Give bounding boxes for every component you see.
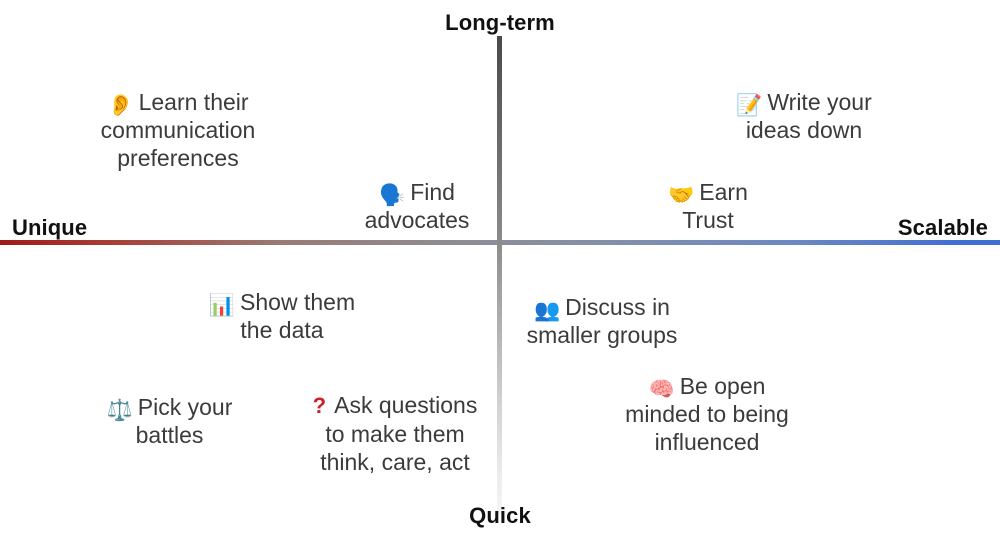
matrix-item-ask-questions: ?Ask questions to make them think, care,…	[300, 363, 490, 476]
quadrant-matrix: Long-term Quick Unique Scalable 👂Learn t…	[0, 0, 1000, 542]
matrix-item-discuss-smaller-groups: 👥Discuss in smaller groups	[512, 265, 692, 349]
brain-icon: 🧠	[649, 379, 675, 400]
matrix-item-be-open-minded: 🧠Be open minded to being influenced	[608, 344, 806, 456]
matrix-item-label: Pick your battles	[136, 394, 233, 448]
question-mark-icon: ?	[313, 393, 326, 418]
matrix-item-label: Ask questions to make them think, care, …	[320, 392, 477, 475]
memo-icon: 📝	[736, 95, 762, 116]
matrix-item-pick-your-battles: ⚖️Pick your battles	[92, 365, 247, 449]
busts-icon: 👥	[534, 300, 560, 321]
axis-label-quick: Quick	[469, 503, 531, 529]
matrix-item-label: Write your ideas down	[746, 89, 872, 143]
bar-chart-icon: 📊	[209, 295, 235, 316]
matrix-item-write-ideas-down: 📝Write your ideas down	[718, 60, 890, 144]
matrix-item-learn-preferences: 👂Learn their communication preferences	[78, 60, 278, 172]
ear-icon: 👂	[107, 95, 133, 116]
matrix-item-find-advocates: 🗣️Find advocates	[352, 150, 482, 234]
axis-label-long-term: Long-term	[445, 10, 555, 36]
vertical-axis	[497, 36, 502, 514]
balance-scale-icon: ⚖️	[107, 400, 133, 421]
speaking-head-icon: 🗣️	[379, 185, 405, 206]
matrix-item-label: Show them the data	[240, 289, 355, 343]
axis-label-unique: Unique	[12, 215, 87, 241]
handshake-icon: 🤝	[668, 185, 694, 206]
axis-label-scalable: Scalable	[898, 215, 988, 241]
matrix-item-show-the-data: 📊Show them the data	[196, 260, 368, 344]
matrix-item-earn-trust: 🤝Earn Trust	[650, 150, 766, 234]
